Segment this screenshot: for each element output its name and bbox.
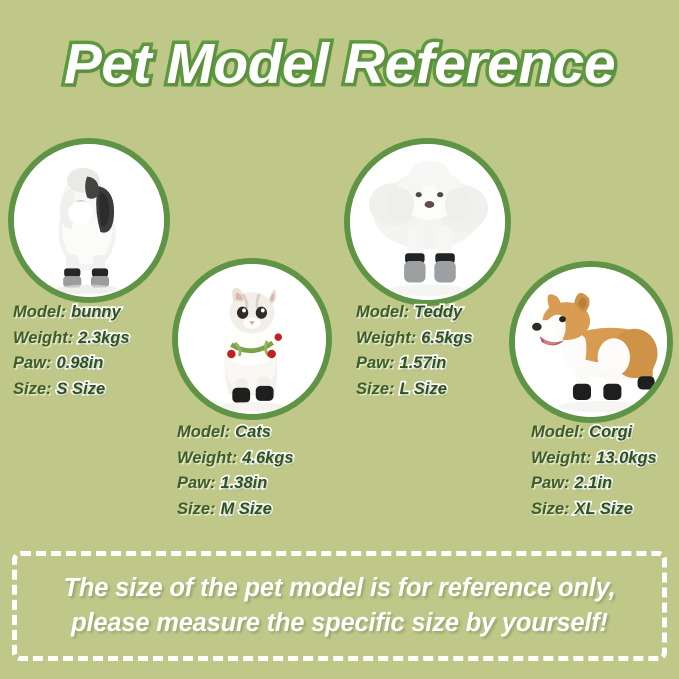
teddy-paw-value: 1.57in (400, 354, 447, 372)
teddy-spec-block: Model:Teddy Weight:6.5kgs Paw:1.57in Siz… (356, 300, 473, 402)
teddy-size-row: Size:L Size (356, 377, 473, 403)
cat-size-row: Size:M Size (177, 497, 294, 523)
corgi-spec-block: Model:Corgi Weight:13.0kgs Paw:2.1in Siz… (531, 420, 657, 522)
teddy-paw-row: Paw:1.57in (356, 351, 473, 377)
bunny-size-value: S Size (57, 380, 106, 398)
disclaimer-line-1: The size of the pet model is for referen… (64, 571, 616, 606)
cat-size-value: M Size (221, 500, 272, 518)
disclaimer-box: The size of the pet model is for referen… (12, 551, 667, 661)
corgi-model-row: Model:Corgi (531, 420, 657, 446)
paw-label: Paw: (13, 354, 52, 372)
model-label: Model: (356, 303, 409, 321)
cat-spec-block: Model:Cats Weight:4.6kgs Paw:1.38in Size… (177, 420, 294, 522)
bunny-weight-value: 2.3kgs (78, 329, 129, 347)
bunny-model-row: Model:bunny (13, 300, 130, 326)
corgi-weight-value: 13.0kgs (596, 449, 657, 467)
corgi-model-value: Corgi (589, 423, 632, 441)
bunny-model-value: bunny (71, 303, 121, 321)
bunny-photo (8, 138, 170, 303)
teddy-weight-row: Weight:6.5kgs (356, 326, 473, 352)
paw-label: Paw: (356, 354, 395, 372)
model-label: Model: (531, 423, 584, 441)
bunny-size-row: Size:S Size (13, 377, 130, 403)
corgi-paw-value: 2.1in (575, 474, 613, 492)
cat-model-row: Model:Cats (177, 420, 294, 446)
model-label: Model: (177, 423, 230, 441)
size-label: Size: (13, 380, 52, 398)
page-title: Pet Model Reference (0, 36, 679, 93)
corgi-paw-row: Paw:2.1in (531, 471, 657, 497)
paw-label: Paw: (177, 474, 216, 492)
cat-model-value: Cats (235, 423, 271, 441)
disclaimer-line-2: please measure the specific size by your… (71, 606, 608, 641)
cat-weight-value: 4.6kgs (242, 449, 293, 467)
weight-label: Weight: (356, 329, 416, 347)
bunny-paw-value: 0.98in (57, 354, 104, 372)
bunny-spec-block: Model:bunny Weight:2.3kgs Paw:0.98in Siz… (13, 300, 130, 402)
bunny-paw-row: Paw:0.98in (13, 351, 130, 377)
bunny-weight-row: Weight:2.3kgs (13, 326, 130, 352)
model-label: Model: (13, 303, 66, 321)
teddy-model-value: Teddy (414, 303, 462, 321)
teddy-model-row: Model:Teddy (356, 300, 473, 326)
size-label: Size: (356, 380, 395, 398)
cat-paw-row: Paw:1.38in (177, 471, 294, 497)
weight-label: Weight: (177, 449, 237, 467)
pet-model-reference-page: Pet Model Reference (0, 0, 679, 679)
cat-weight-row: Weight:4.6kgs (177, 446, 294, 472)
teddy-size-value: L Size (400, 380, 447, 398)
cat-photo (172, 258, 332, 420)
teddy-weight-value: 6.5kgs (421, 329, 472, 347)
size-label: Size: (177, 500, 216, 518)
corgi-photo (509, 261, 673, 423)
weight-label: Weight: (531, 449, 591, 467)
corgi-weight-row: Weight:13.0kgs (531, 446, 657, 472)
paw-label: Paw: (531, 474, 570, 492)
size-label: Size: (531, 500, 570, 518)
weight-label: Weight: (13, 329, 73, 347)
cat-paw-value: 1.38in (221, 474, 268, 492)
teddy-photo (344, 138, 511, 306)
corgi-size-value: XL Size (575, 500, 633, 518)
corgi-size-row: Size:XL Size (531, 497, 657, 523)
